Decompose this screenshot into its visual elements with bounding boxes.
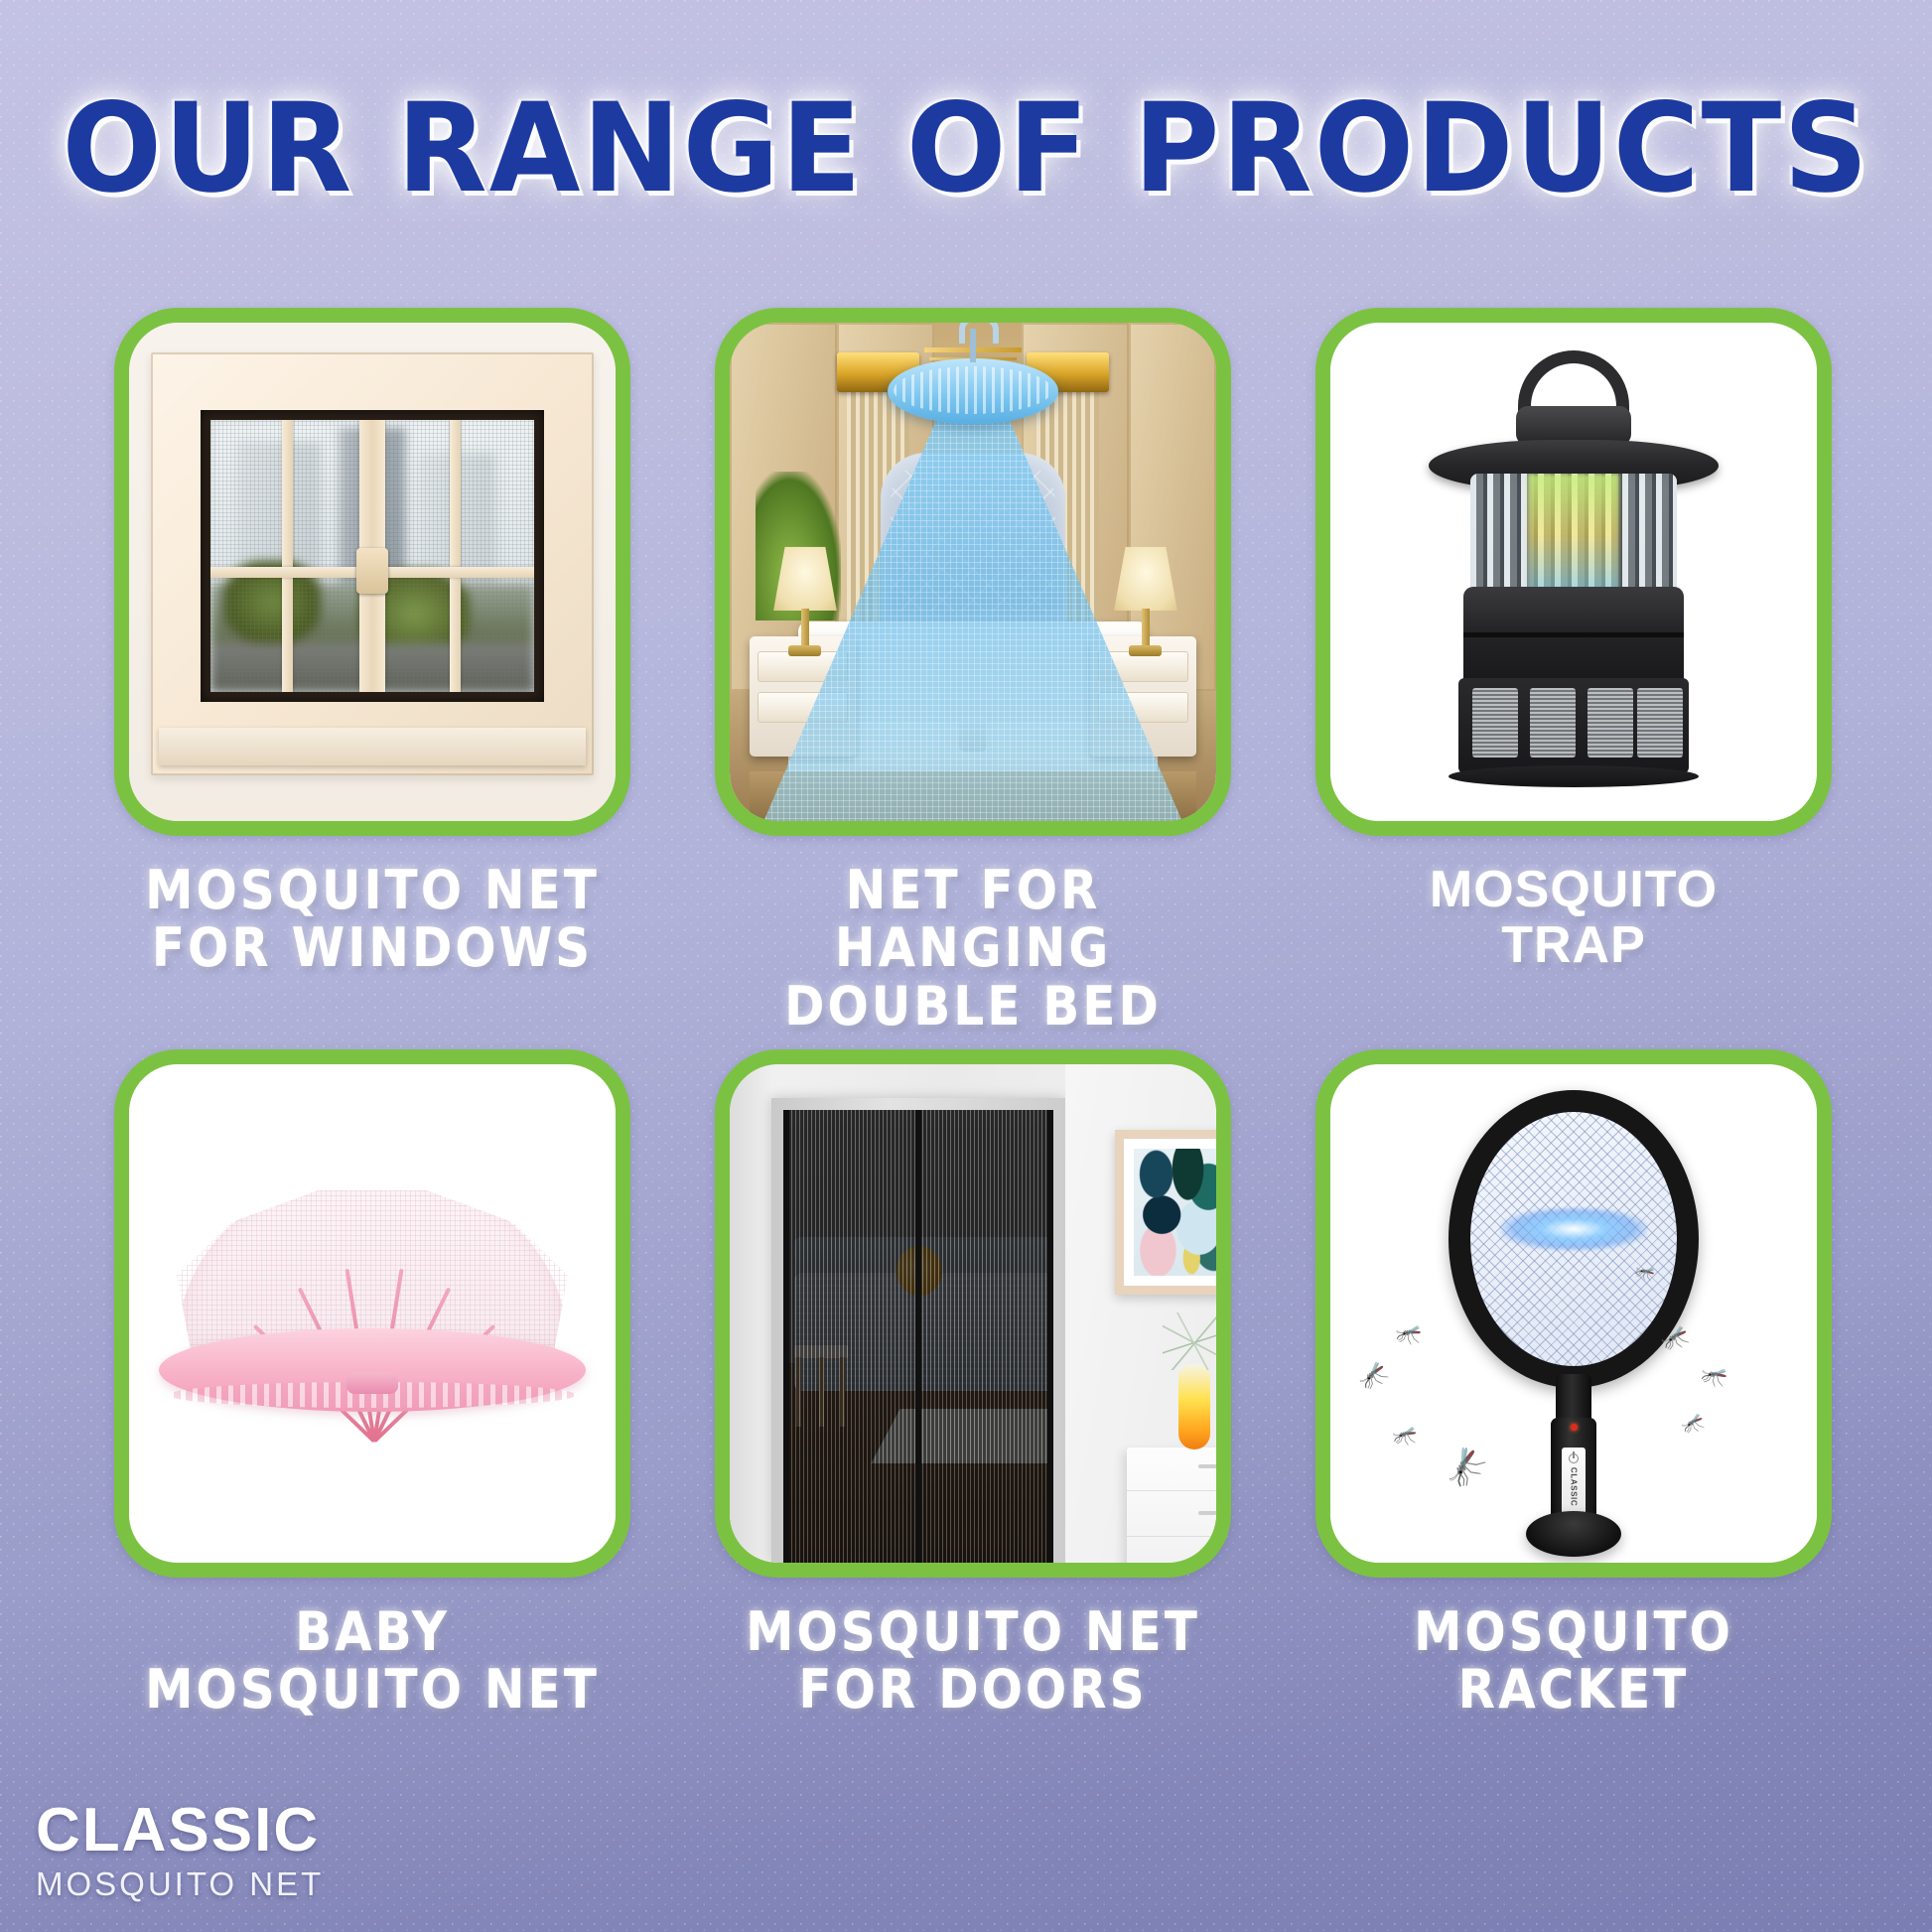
- product-image-frame[interactable]: [1315, 308, 1832, 836]
- power-led-icon: [1571, 1424, 1578, 1431]
- product-card-baby-mosquito-net[interactable]: BABY MOSQUITO NET: [114, 1049, 630, 1720]
- product-image-frame[interactable]: [715, 308, 1231, 836]
- product-card-mosquito-net-for-doors[interactable]: MOSQUITO NET FOR DOORS: [715, 1049, 1231, 1720]
- product-label: MOSQUITO NET FOR DOORS: [715, 1603, 1231, 1720]
- page-title: OUR RANGE OF PRODUCTS: [62, 77, 1869, 220]
- logo-tagline: MOSQUITO NET: [36, 1867, 324, 1900]
- product-label: NET FOR HANGING DOUBLE BED: [715, 862, 1231, 1035]
- product-image-baby-net: [129, 1064, 616, 1563]
- handle-brand-sticker: CLASSIC: [1562, 1448, 1586, 1517]
- mosquito-icon: 🦟: [1391, 1424, 1419, 1448]
- handle-brand-text: CLASSIC: [1570, 1467, 1579, 1506]
- product-label: MOSQUITO RACKET: [1315, 1603, 1832, 1720]
- product-image-door-net: [730, 1064, 1216, 1563]
- product-image-frame[interactable]: CLASSIC 🦟 🦟 🦟 🦟 🦟 🦟 🦟 🦟: [1315, 1049, 1832, 1578]
- product-image-frame[interactable]: [715, 1049, 1231, 1578]
- product-card-net-for-hanging-double-bed[interactable]: NET FOR HANGING DOUBLE BED: [715, 308, 1231, 1035]
- product-label: BABY MOSQUITO NET: [114, 1603, 630, 1720]
- product-card-mosquito-net-for-windows[interactable]: MOSQUITO NET FOR WINDOWS: [114, 308, 630, 1035]
- mosquito-icon: 🦟: [1659, 1324, 1691, 1352]
- product-label: MOSQUITO NET FOR WINDOWS: [114, 862, 630, 978]
- product-card-mosquito-racket[interactable]: CLASSIC 🦟 🦟 🦟 🦟 🦟 🦟 🦟 🦟 MOSQUITO RACKET: [1315, 1049, 1832, 1720]
- brand-logo: CLASSIC MOSQUITO NET: [36, 1800, 324, 1900]
- product-image-canopy-net: [730, 323, 1216, 821]
- logo-brand-name: CLASSIC: [36, 1800, 324, 1862]
- mosquito-icon: 🦟: [1680, 1412, 1706, 1434]
- product-image-window-net: [129, 323, 616, 821]
- product-image-frame[interactable]: [114, 308, 630, 836]
- product-grid: MOSQUITO NET FOR WINDOWS: [114, 308, 1832, 1720]
- product-image-mosquito-trap: [1330, 323, 1817, 821]
- page-header: OUR RANGE OF PRODUCTS: [0, 77, 1932, 220]
- product-label: MOSQUITO TRAP: [1315, 862, 1832, 973]
- product-card-mosquito-trap[interactable]: MOSQUITO TRAP: [1315, 308, 1832, 1035]
- power-button-icon: [1569, 1453, 1579, 1463]
- product-image-mosquito-racket: CLASSIC 🦟 🦟 🦟 🦟 🦟 🦟 🦟 🦟: [1330, 1064, 1817, 1563]
- product-image-frame[interactable]: [114, 1049, 630, 1578]
